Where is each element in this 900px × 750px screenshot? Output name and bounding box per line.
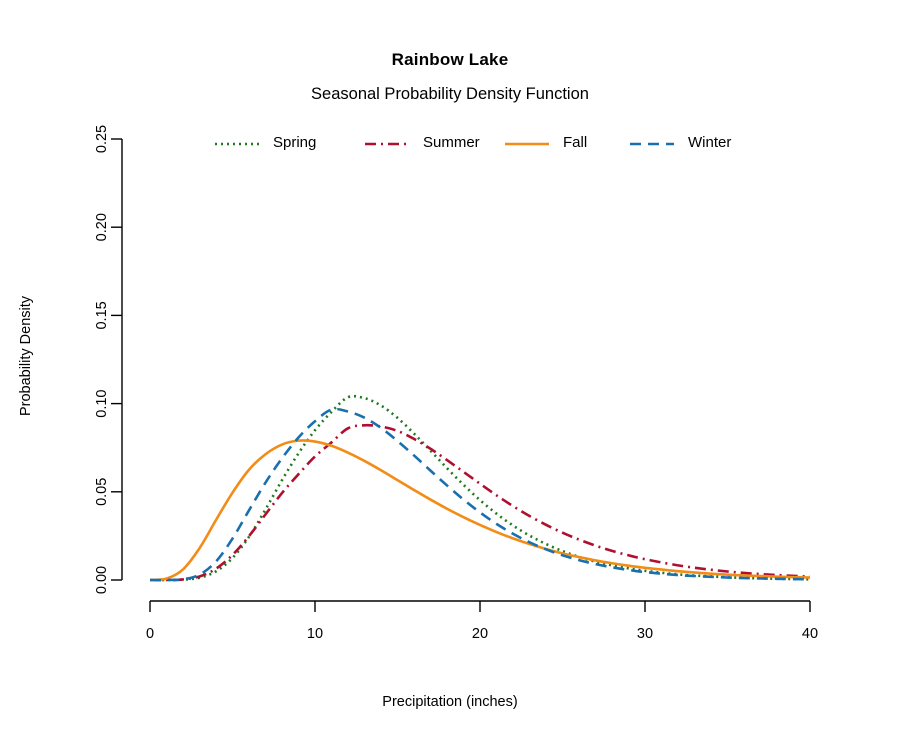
- y-tick-label: 0.05: [94, 478, 110, 506]
- legend-sample-fall: [505, 138, 549, 150]
- legend-label-winter: Winter: [688, 134, 731, 151]
- legend-label-summer: Summer: [423, 134, 480, 151]
- y-tick-label: 0.20: [94, 213, 110, 241]
- legend-label-fall: Fall: [563, 134, 587, 151]
- density-plot: 0.000.050.100.150.200.25010203040: [0, 0, 900, 750]
- legend-sample-summer: [365, 138, 409, 150]
- series-line-summer: [150, 425, 810, 580]
- y-tick-label: 0.15: [94, 301, 110, 329]
- x-axis-label: Precipitation (inches): [0, 694, 900, 710]
- x-tick-label: 20: [472, 626, 488, 642]
- x-tick-label: 40: [802, 626, 818, 642]
- series-line-spring: [150, 396, 810, 580]
- y-tick-label: 0.10: [94, 389, 110, 417]
- x-tick-label: 30: [637, 626, 653, 642]
- x-tick-label: 0: [146, 626, 154, 642]
- y-axis-label: Probability Density: [18, 256, 34, 456]
- series-line-winter: [150, 409, 810, 580]
- x-tick-label: 10: [307, 626, 323, 642]
- legend-sample-winter: [630, 138, 674, 150]
- y-tick-label: 0.25: [94, 125, 110, 153]
- legend-sample-spring: [215, 138, 259, 150]
- y-tick-label: 0.00: [94, 566, 110, 594]
- legend-label-spring: Spring: [273, 134, 316, 151]
- chart-page: Rainbow Lake Seasonal Probability Densit…: [0, 0, 900, 750]
